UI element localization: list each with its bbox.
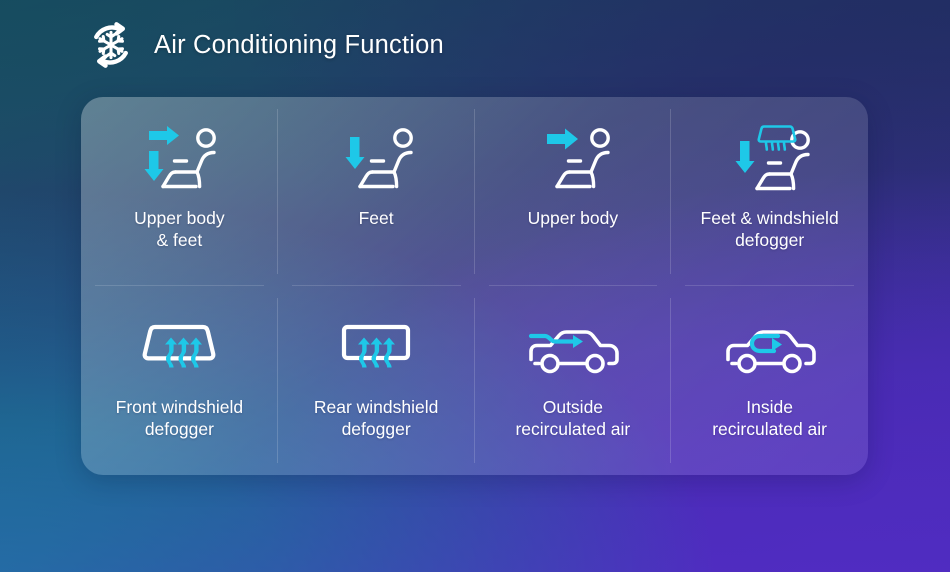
snowflake-recirculation-icon	[84, 18, 138, 72]
function-cell-upper-body[interactable]: Upper body	[475, 97, 672, 286]
page-title: Air Conditioning Function	[154, 31, 444, 60]
function-cell-front-windshield-defogger[interactable]: Front windshield defogger	[81, 286, 278, 475]
function-label: Rear windshield defogger	[306, 396, 447, 441]
front-windshield-defogger-icon	[133, 308, 225, 390]
function-label: Feet & windshield defogger	[693, 207, 847, 252]
seat-feet-icon	[328, 119, 424, 201]
function-cell-feet-and-windshield-defogger[interactable]: Feet & windshield defogger	[671, 97, 868, 286]
function-grid: Upper body & feet	[81, 97, 868, 475]
function-label: Front windshield defogger	[108, 396, 251, 441]
car-outside-air-icon	[519, 308, 627, 390]
function-label: Upper body	[520, 207, 626, 229]
rear-windshield-defogger-icon	[330, 308, 422, 390]
air-conditioning-function-card: Upper body & feet	[81, 97, 868, 475]
function-label: Inside recirculated air	[704, 396, 835, 441]
function-cell-upper-body-and-feet[interactable]: Upper body & feet	[81, 97, 278, 286]
function-cell-outside-recirculated-air[interactable]: Outside recirculated air	[475, 286, 672, 475]
seat-feet-and-windshield-defogger-icon	[720, 119, 820, 201]
function-cell-feet[interactable]: Feet	[278, 97, 475, 286]
seat-upper-body-icon	[525, 119, 621, 201]
car-inside-recirculation-icon	[716, 308, 824, 390]
function-label: Feet	[351, 207, 402, 229]
page-header: Air Conditioning Function	[84, 18, 444, 72]
function-cell-rear-windshield-defogger[interactable]: Rear windshield defogger	[278, 286, 475, 475]
function-label: Outside recirculated air	[507, 396, 638, 441]
function-label: Upper body & feet	[126, 207, 232, 252]
function-cell-inside-recirculated-air[interactable]: Inside recirculated air	[671, 286, 868, 475]
seat-upper-body-and-feet-icon	[131, 119, 227, 201]
